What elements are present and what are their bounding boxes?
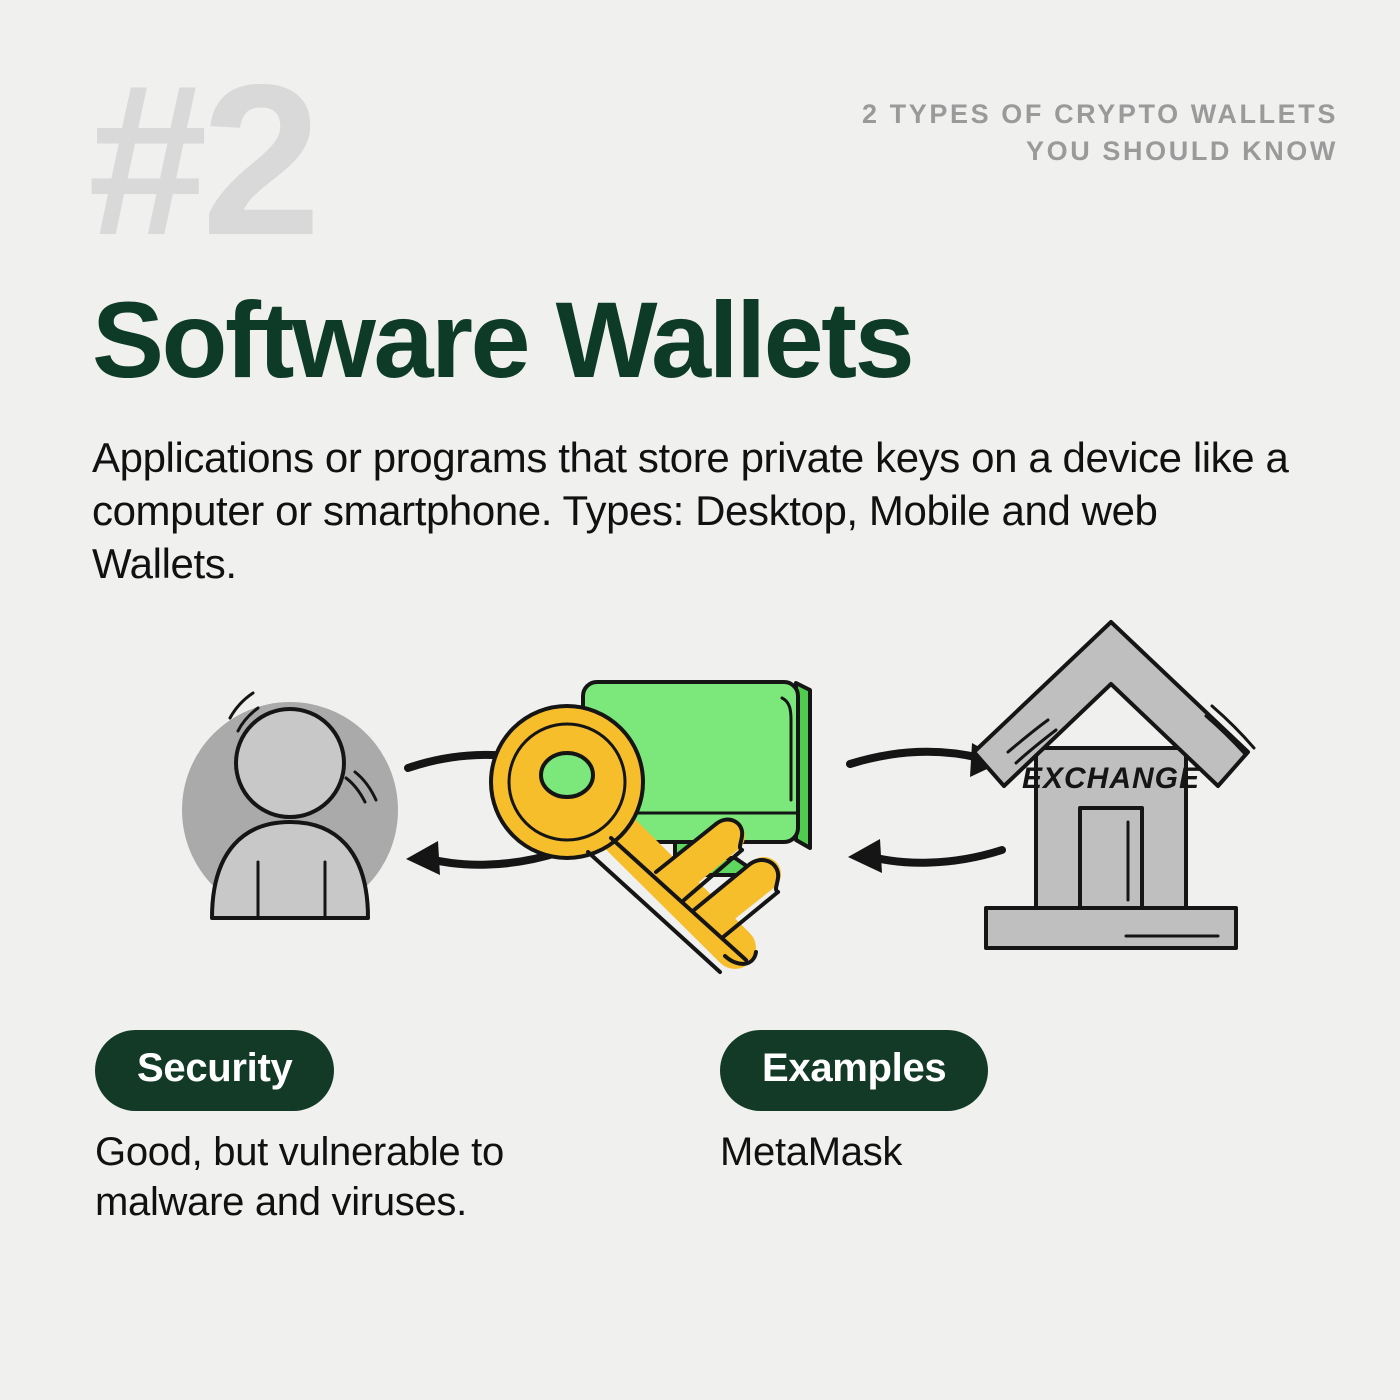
wallet-flow-illustration: .ol { stroke:#151515; stroke-width:4; st… (150, 600, 1270, 1010)
exchange-sign-label: EXCHANGE (1022, 762, 1200, 795)
infographic-slide: #2 2 TYPES OF CRYPTO WALLETS YOU SHOULD … (0, 0, 1400, 1400)
kicker-line-2: YOU SHOULD KNOW (862, 133, 1338, 170)
examples-badge[interactable]: Examples (720, 1030, 988, 1111)
person-avatar-icon (182, 693, 398, 918)
exchange-building-icon: EXCHANGE (974, 622, 1254, 948)
examples-description: MetaMask (720, 1128, 1240, 1178)
slide-number: #2 (88, 52, 315, 267)
page-description: Applications or programs that store priv… (92, 432, 1307, 591)
series-kicker: 2 TYPES OF CRYPTO WALLETS YOU SHOULD KNO… (862, 96, 1338, 171)
page-title: Software Wallets (92, 286, 912, 394)
arrow-exchange-to-device (848, 839, 1002, 873)
security-badge[interactable]: Security (95, 1030, 334, 1111)
kicker-line-1: 2 TYPES OF CRYPTO WALLETS (862, 96, 1338, 133)
security-description: Good, but vulnerable to malware and viru… (95, 1128, 615, 1227)
